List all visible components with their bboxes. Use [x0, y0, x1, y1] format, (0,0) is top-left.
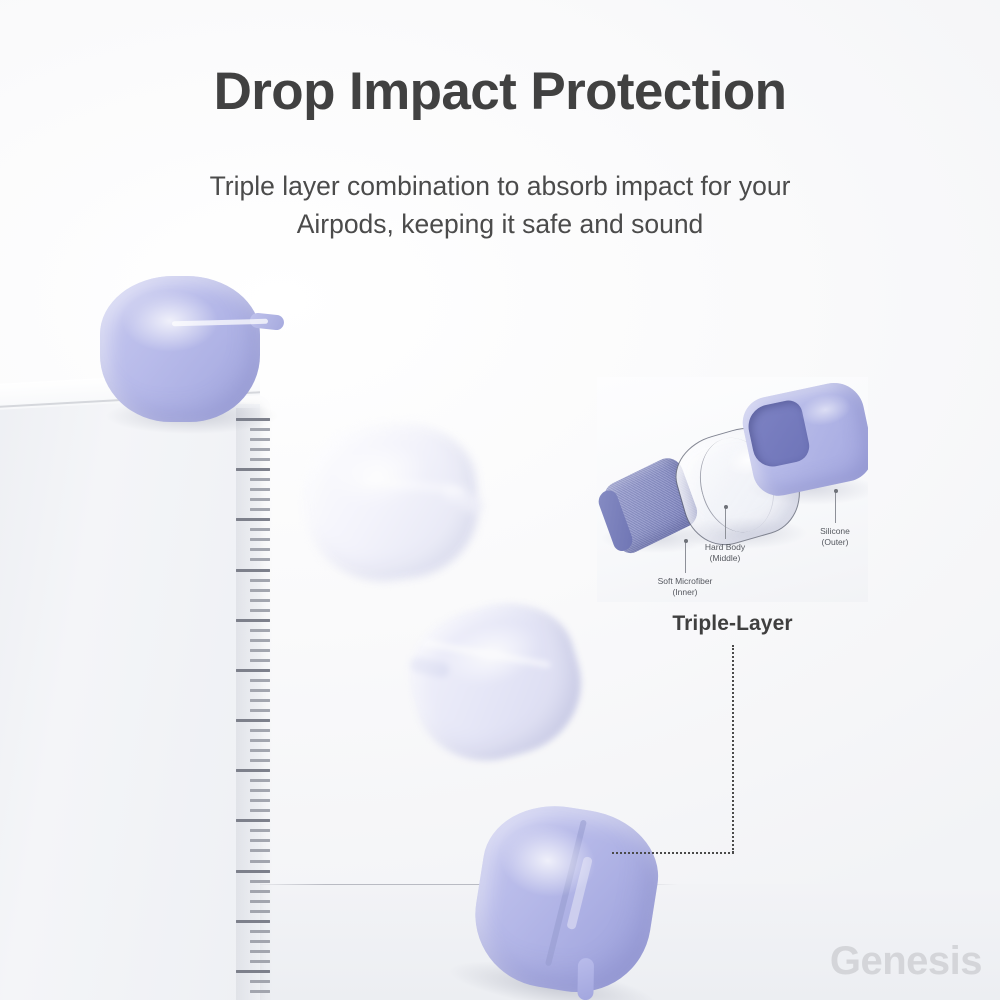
ruler-tick-minor: [250, 709, 270, 712]
ruler-tick-major: [236, 819, 270, 822]
ruler-tick-minor: [250, 448, 270, 451]
ruler-tick-minor: [250, 528, 270, 531]
label-hardbody-name: Hard Body: [679, 542, 771, 553]
ruler-tick-minor: [250, 799, 270, 802]
leader-line-hardbody: [725, 507, 726, 539]
ruler-tick-minor: [250, 930, 270, 933]
ruler-tick-minor: [250, 779, 270, 782]
ruler-tick-minor: [250, 940, 270, 943]
ruler-tick-minor: [250, 589, 270, 592]
ruler-tick-major: [236, 468, 270, 471]
ruler-tick-major: [236, 669, 270, 672]
ruler-tick-minor: [250, 900, 270, 903]
ruler-tick-major: [236, 920, 270, 923]
ruler-tick-minor: [250, 609, 270, 612]
ruler-scale: [228, 418, 270, 1000]
ruler-tick-major: [236, 970, 270, 973]
brand-watermark: Genesis: [830, 939, 982, 984]
pedestal-block: [0, 404, 260, 1000]
ruler-tick-minor: [250, 809, 270, 812]
ruler-tick-minor: [250, 558, 270, 561]
ruler-tick-minor: [250, 829, 270, 832]
ruler-tick-major: [236, 769, 270, 772]
callout-line-vertical: [732, 645, 734, 853]
ruler-tick-minor: [250, 880, 270, 883]
ruler-tick-minor: [250, 639, 270, 642]
ruler-tick-minor: [250, 689, 270, 692]
triple-layer-caption: Triple-Layer: [597, 612, 868, 636]
ruler-tick-minor: [250, 548, 270, 551]
ruler-tick-minor: [250, 990, 270, 993]
ruler-tick-minor: [250, 980, 270, 983]
ruler-tick-major: [236, 719, 270, 722]
label-hardbody-sub: (Middle): [679, 553, 771, 564]
leader-line-silicone: [835, 491, 836, 523]
ruler-tick-minor: [250, 749, 270, 752]
ruler-tick-minor: [250, 458, 270, 461]
airpods-case-on-pedestal: [100, 276, 260, 422]
callout-line-horizontal: [612, 852, 734, 854]
ruler-tick-minor: [250, 478, 270, 481]
page-title: Drop Impact Protection: [0, 64, 1000, 120]
ruler-tick-minor: [250, 488, 270, 491]
ruler-tick-minor: [250, 759, 270, 762]
case-body: [100, 276, 260, 422]
label-microfiber-name: Soft Microfiber: [631, 576, 739, 587]
ruler-tick-major: [236, 619, 270, 622]
ruler-tick-minor: [250, 699, 270, 702]
airpods-case-landed: [465, 795, 667, 1000]
product-feature-image: Drop Impact Protection Triple layer comb…: [0, 0, 1000, 1000]
airpods-case-falling-upper: [297, 414, 487, 590]
ruler-tick-minor: [250, 910, 270, 913]
ruler-tick-minor: [250, 508, 270, 511]
ruler-tick-minor: [250, 498, 270, 501]
ruler-tick-minor: [250, 649, 270, 652]
ruler-tick-minor: [250, 629, 270, 632]
ruler-tick-minor: [250, 739, 270, 742]
ruler-tick-minor: [250, 729, 270, 732]
ruler-tick-minor: [250, 789, 270, 792]
ruler-tick-major: [236, 569, 270, 572]
exploded-view-inset: Soft Microfiber (Inner) Hard Body (Middl…: [597, 377, 868, 602]
ruler-tick-minor: [250, 538, 270, 541]
label-silicone-sub: (Outer): [793, 537, 868, 548]
ruler-tick-minor: [250, 839, 270, 842]
ruler-tick-minor: [250, 679, 270, 682]
ruler-tick-major: [236, 870, 270, 873]
ruler-tick-minor: [250, 599, 270, 602]
label-silicone: Silicone (Outer): [793, 526, 868, 548]
ruler-tick-minor: [250, 950, 270, 953]
page-subtitle: Triple layer combination to absorb impac…: [180, 168, 820, 243]
ruler-tick-minor: [250, 960, 270, 963]
label-silicone-name: Silicone: [793, 526, 868, 537]
ruler-tick-minor: [250, 860, 270, 863]
ruler-tick-minor: [250, 890, 270, 893]
case-carabiner-clip: [577, 958, 594, 1000]
label-hard-body: Hard Body (Middle): [679, 542, 771, 564]
ruler-tick-major: [236, 518, 270, 521]
ruler-tick-minor: [250, 579, 270, 582]
ruler-tick-minor: [250, 849, 270, 852]
ruler-tick-minor: [250, 659, 270, 662]
ruler-tick-minor: [250, 438, 270, 441]
label-microfiber-sub: (Inner): [631, 587, 739, 598]
label-soft-microfiber: Soft Microfiber (Inner): [631, 576, 739, 598]
